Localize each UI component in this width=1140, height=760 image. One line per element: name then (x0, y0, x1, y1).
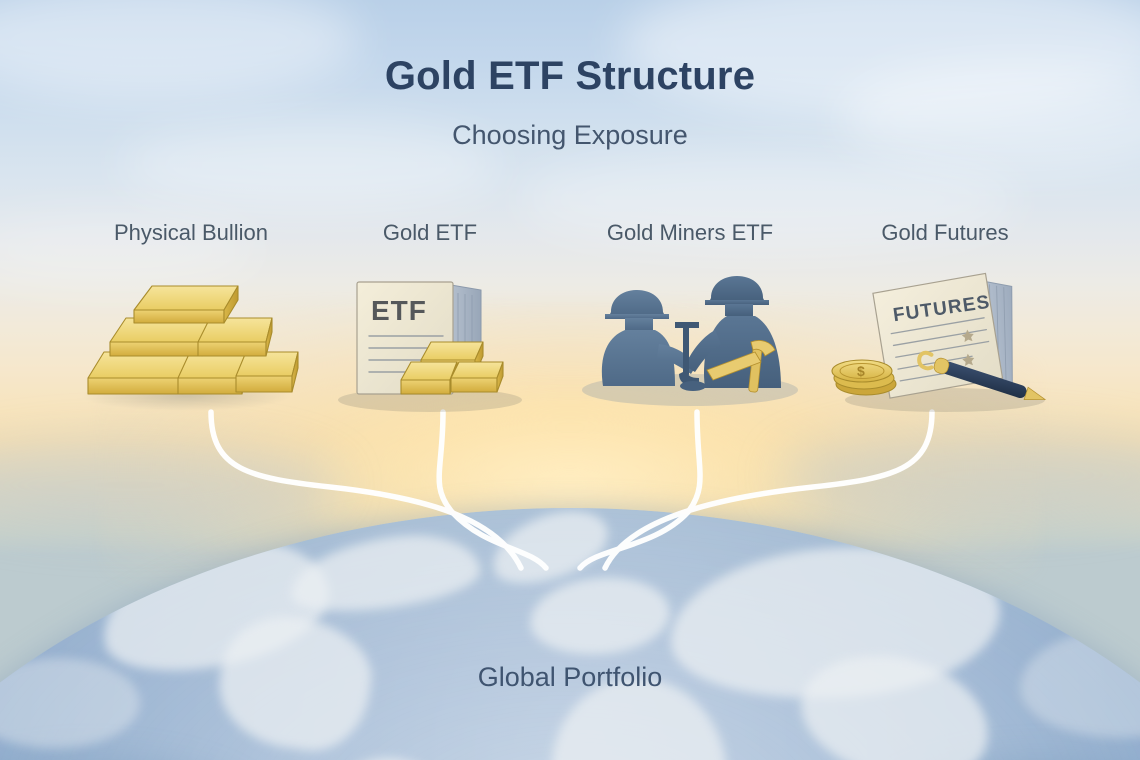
svg-text:$: $ (857, 363, 865, 379)
column-label: Gold Miners ETF (565, 220, 815, 246)
column-label: Gold Futures (820, 220, 1070, 246)
page-subtitle: Choosing Exposure (0, 120, 1140, 151)
column-gold-miners-etf[interactable]: Gold Miners ETF (565, 220, 815, 418)
column-physical-bullion[interactable]: Physical Bullion (66, 220, 316, 418)
globe-illustration (0, 508, 1140, 760)
gold-etf-structure-infographic: Gold ETF Structure Choosing Exposure Phy… (0, 0, 1140, 760)
futures-contract-icon: FUTURES (820, 268, 1070, 418)
page-title: Gold ETF Structure (0, 54, 1140, 99)
column-label: Gold ETF (305, 220, 555, 246)
gold-coin-stack: $ (832, 360, 896, 395)
column-gold-etf[interactable]: Gold ETF (305, 220, 555, 418)
etf-doc-heading: ETF (371, 295, 427, 326)
globe-label: Global Portfolio (0, 662, 1140, 693)
etf-document-icon: ETF (305, 268, 555, 418)
column-gold-futures[interactable]: Gold Futures (820, 220, 1070, 418)
miners-silhouette-icon (565, 268, 815, 418)
column-label: Physical Bullion (66, 220, 316, 246)
gold-bar-stack-icon (66, 268, 316, 418)
